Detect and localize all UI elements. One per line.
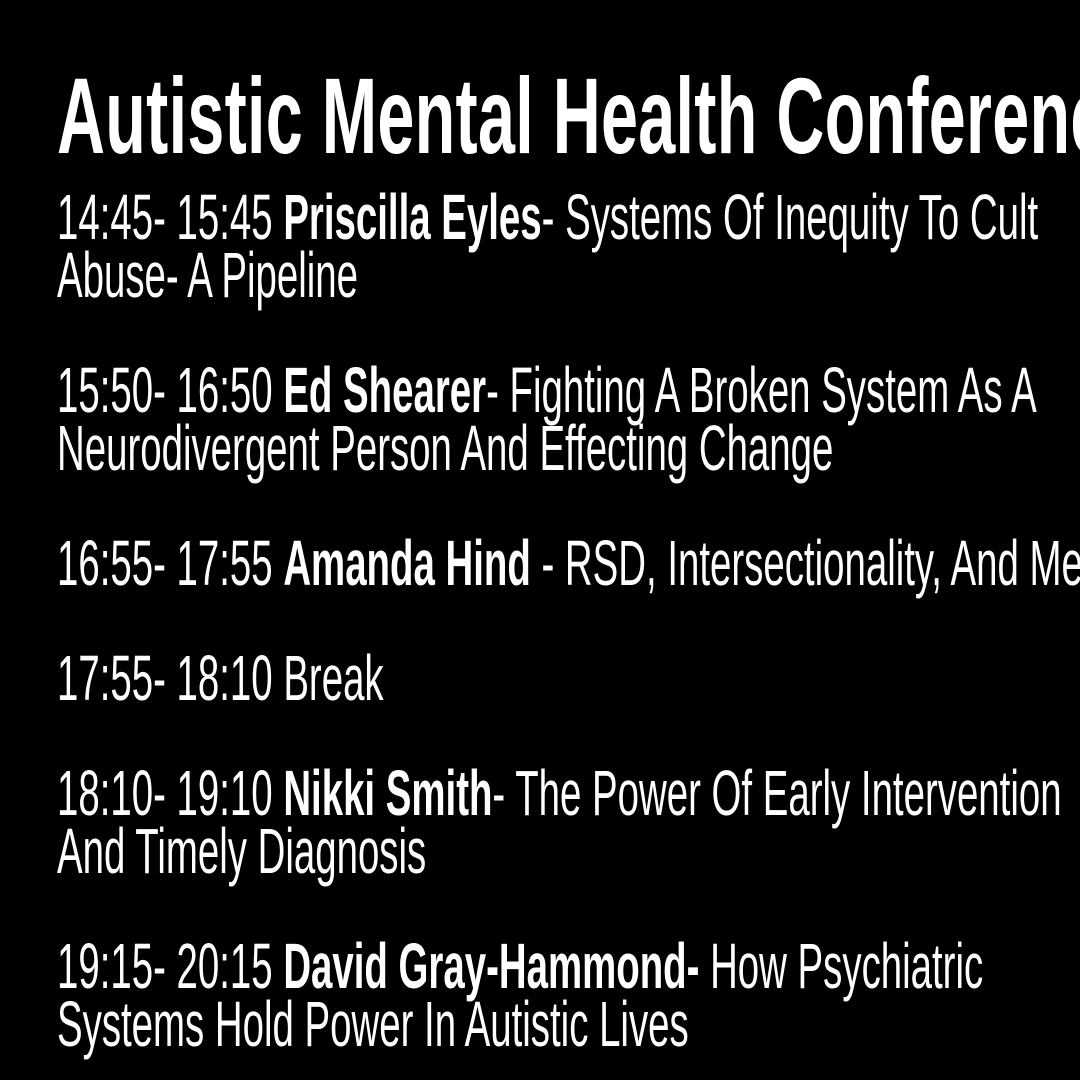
entry-talk-title-cont: And Timely Diagnosis — [57, 815, 426, 887]
entry-talk-title: RSD, Intersectionality, And Me — [565, 527, 1080, 599]
entry-talk-title: Break — [283, 642, 383, 714]
schedule-entry-line-1: 14:45- 15:45 Priscilla Eyles- Systems Of… — [57, 188, 1067, 246]
schedule-list: 14:45- 15:45 Priscilla Eyles- Systems Of… — [57, 188, 1067, 1053]
entry-talk-title: The Power Of Early Intervention — [515, 757, 1061, 829]
schedule-entry: 18:10- 19:10 Nikki Smith- The Power Of E… — [57, 764, 1067, 880]
schedule-entry-line-1: 16:55- 17:55 Amanda Hind - RSD, Intersec… — [57, 534, 1067, 592]
schedule-entry: 14:45- 15:45 Priscilla Eyles- Systems Of… — [57, 188, 1067, 304]
entry-separator: - — [531, 527, 565, 599]
schedule-entry-line-1: 17:55- 18:10 Break — [57, 649, 1067, 707]
entry-separator — [699, 930, 710, 1002]
schedule-entry: 17:55- 18:10 Break — [57, 649, 1067, 707]
entry-talk-title: How Psychiatric — [710, 930, 983, 1002]
entry-time: 17:55- 18:10 — [57, 642, 283, 714]
schedule-entry-line-2: Abuse- A Pipeline — [57, 246, 1067, 304]
schedule-entry: 16:55- 17:55 Amanda Hind - RSD, Intersec… — [57, 534, 1067, 592]
schedule-entry-line-2: Systems Hold Power In Autistic Lives — [57, 995, 1067, 1053]
schedule-entry-line-1: 19:15- 20:15 David Gray-Hammond- How Psy… — [57, 937, 1067, 995]
entry-talk-title: Systems Of Inequity To Cult — [565, 181, 1038, 253]
entry-speaker: Amanda Hind — [283, 527, 530, 599]
conference-schedule-poster: Autistic Mental Health Conference 14:45-… — [0, 0, 1080, 1080]
schedule-entry-line-1: 18:10- 19:10 Nikki Smith- The Power Of E… — [57, 764, 1067, 822]
schedule-entry: 19:15- 20:15 David Gray-Hammond- How Psy… — [57, 937, 1067, 1053]
entry-talk-title-cont: Systems Hold Power In Autistic Lives — [57, 988, 689, 1060]
entry-time: 16:55- 17:55 — [57, 527, 283, 599]
entry-talk-title-cont: Abuse- A Pipeline — [57, 239, 358, 311]
entry-talk-title-cont: Neurodivergent Person And Effecting Chan… — [57, 412, 833, 484]
schedule-entry-line-1: 15:50- 16:50 Ed Shearer- Fighting A Brok… — [57, 361, 1067, 419]
page-title: Autistic Mental Health Conference — [57, 62, 1080, 170]
schedule-entry-line-2: And Timely Diagnosis — [57, 822, 1067, 880]
entry-separator: - — [492, 757, 515, 829]
page-title-container: Autistic Mental Health Conference — [57, 62, 1057, 158]
schedule-entry: 15:50- 16:50 Ed Shearer- Fighting A Brok… — [57, 361, 1067, 477]
schedule-entry-line-2: Neurodivergent Person And Effecting Chan… — [57, 419, 1067, 477]
entry-separator: - — [542, 181, 565, 253]
